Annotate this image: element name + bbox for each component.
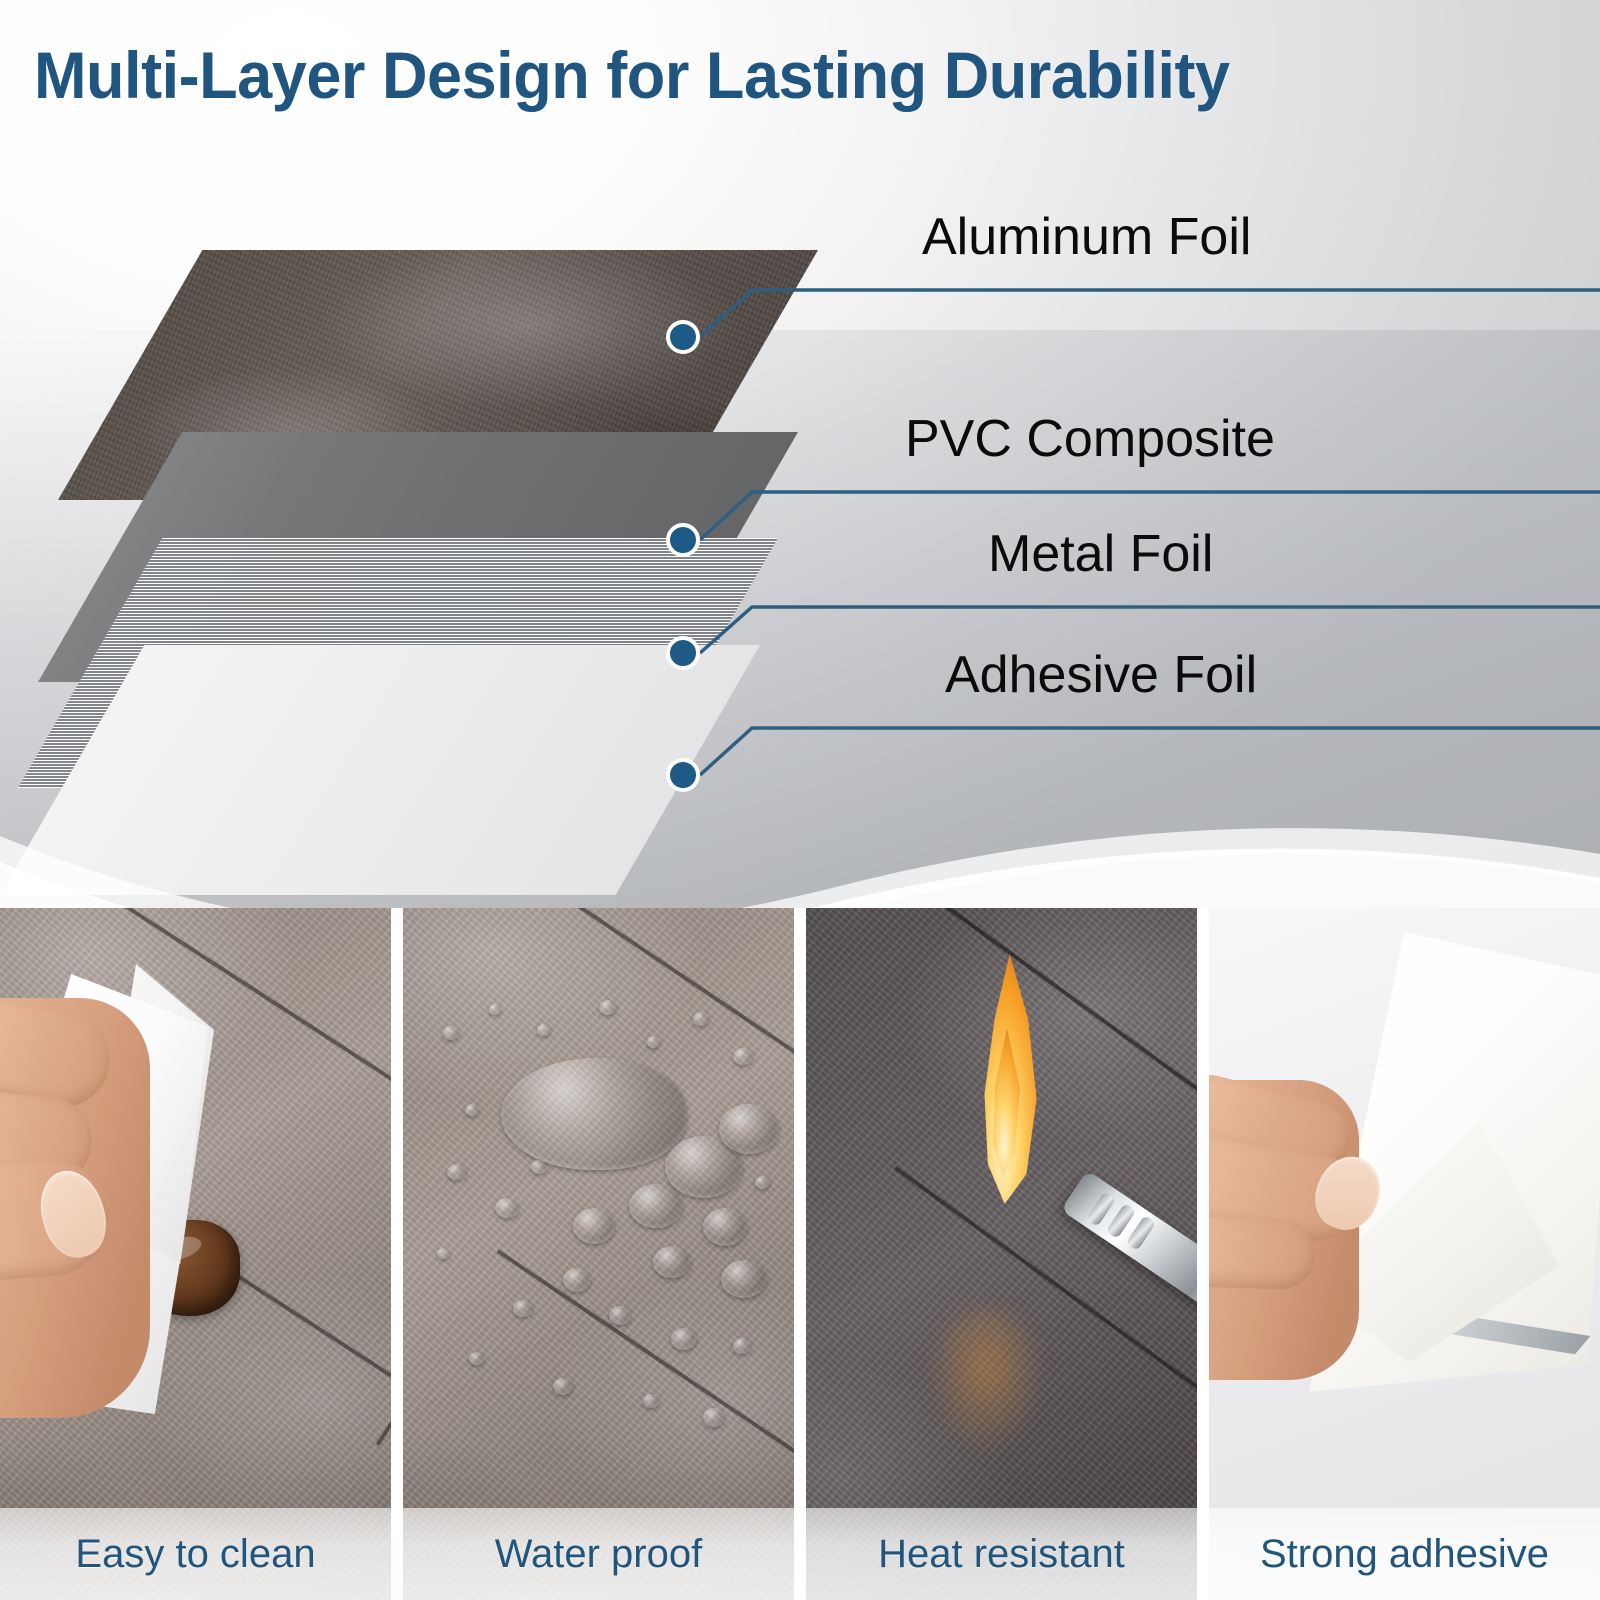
water-droplet: [703, 1408, 725, 1427]
water-droplet: [721, 1260, 767, 1298]
infographic-page: Multi-Layer Design for Lasting Durabilit…: [0, 0, 1600, 1600]
caption-strong-adhesive: Strong adhesive: [1209, 1508, 1600, 1600]
caption-water-proof: Water proof: [403, 1508, 794, 1600]
water-droplet: [653, 1246, 691, 1278]
water-droplet: [671, 1328, 697, 1350]
water-droplet: [553, 1378, 573, 1395]
water-droplet-large: [501, 1058, 687, 1170]
caption-heat-resistant: Heat resistant: [806, 1508, 1197, 1600]
water-droplet: [573, 1208, 615, 1244]
water-droplet: [733, 1338, 751, 1354]
layer-label-metal-foil: Metal Foil: [988, 525, 1213, 583]
caption-text: Strong adhesive: [1260, 1532, 1549, 1577]
layer-stack: [0, 0, 900, 900]
caption-text: Heat resistant: [878, 1532, 1125, 1577]
finger: [1209, 1215, 1316, 1290]
photo-heat-resistant: [806, 908, 1197, 1600]
water-droplet: [531, 1160, 547, 1174]
water-droplet: [755, 1176, 770, 1189]
photo-easy-to-clean: [0, 908, 391, 1600]
water-droplet: [733, 1048, 753, 1065]
water-droplet: [437, 1248, 450, 1259]
water-droplet: [465, 1104, 479, 1116]
water-droplet: [599, 1000, 617, 1015]
layer-label-aluminum-foil: Aluminum Foil: [922, 208, 1251, 266]
feature-panel-easy-to-clean[interactable]: Easy to clean: [0, 908, 391, 1600]
water-droplet: [563, 1268, 591, 1292]
water-droplet: [703, 1208, 747, 1246]
water-droplet: [447, 1164, 466, 1180]
water-droplet: [469, 1352, 484, 1365]
water-droplet: [647, 1036, 660, 1048]
water-droplet: [609, 1306, 631, 1325]
feature-panel-heat-resistant[interactable]: Heat resistant: [806, 908, 1197, 1600]
callout-dot-aluminum-foil[interactable]: [666, 320, 700, 354]
feature-photo-grid: Easy to clean: [0, 908, 1600, 1600]
water-droplet: [693, 1012, 709, 1026]
caption-text: Water proof: [495, 1532, 702, 1577]
photo-strong-adhesive: [1209, 908, 1600, 1600]
callout-dot-pvc-composite[interactable]: [666, 523, 700, 557]
water-droplet: [643, 1394, 659, 1408]
layer-label-adhesive-foil: Adhesive Foil: [945, 646, 1257, 704]
water-droplet: [513, 1300, 533, 1317]
callout-dot-metal-foil[interactable]: [666, 636, 700, 670]
water-droplet: [629, 1184, 683, 1228]
water-droplet: [719, 1104, 779, 1154]
water-droplet: [537, 1024, 551, 1036]
caption-easy-to-clean: Easy to clean: [0, 1508, 391, 1600]
callout-dot-adhesive-foil[interactable]: [666, 758, 700, 792]
caption-text: Easy to clean: [75, 1532, 315, 1577]
water-droplet: [489, 1004, 501, 1015]
feature-panel-strong-adhesive[interactable]: Strong adhesive: [1209, 908, 1600, 1600]
water-droplet: [495, 1198, 519, 1218]
flame-reflection: [926, 1308, 1046, 1458]
layer-diagram-section: Multi-Layer Design for Lasting Durabilit…: [0, 0, 1600, 960]
photo-water-proof: [403, 908, 794, 1600]
feature-panel-water-proof[interactable]: Water proof: [403, 908, 794, 1600]
water-droplet: [443, 1026, 459, 1040]
layer-label-pvc-composite: PVC Composite: [905, 410, 1275, 468]
